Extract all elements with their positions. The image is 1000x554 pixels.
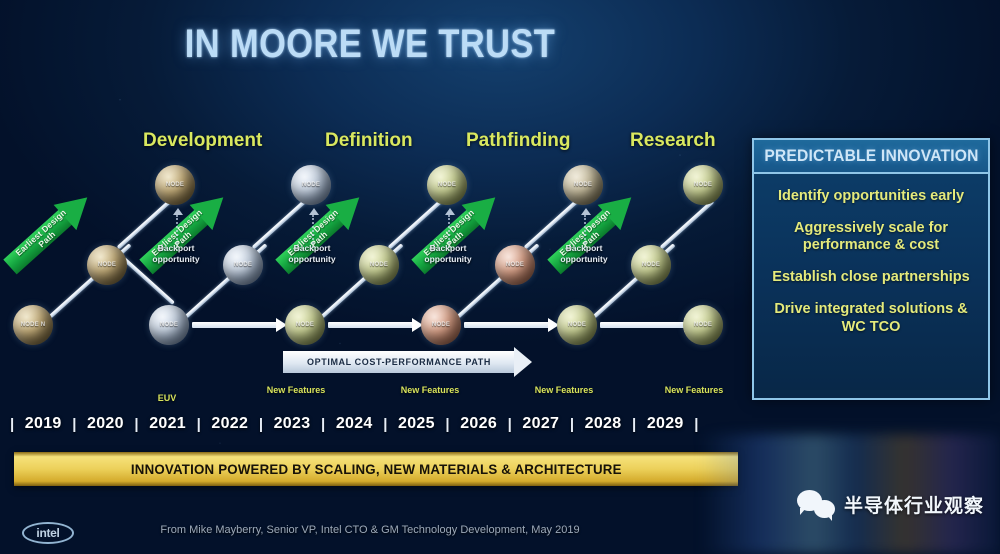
backport-label: Backport opportunity	[274, 243, 350, 264]
timeline-year-2022: 2022	[203, 415, 257, 433]
backport-label: Backport opportunity	[410, 243, 486, 264]
timeline-year-2020: 2020	[78, 415, 132, 433]
timeline-tick: |	[443, 416, 451, 433]
wafer-node-label: NODE	[98, 262, 116, 269]
wafer-node-bottom[interactable]: NODE	[285, 305, 325, 345]
optimal-cost-performance-label: OPTIMAL COST-PERFORMANCE PATH	[307, 357, 491, 367]
wafer-node-mid[interactable]: NODE	[87, 245, 127, 285]
wafer-node-label: NODE	[370, 262, 388, 269]
wafer-node-mid[interactable]: NODE	[359, 245, 399, 285]
panel-bullet-1: Identify opportunities early	[766, 188, 976, 205]
wafer-node-label: NODE	[694, 182, 712, 189]
optimal-cost-performance-banner: OPTIMAL COST-PERFORMANCE PATH	[283, 351, 515, 373]
wafer-node-mid[interactable]: NODE	[495, 245, 535, 285]
wafer-node-mid[interactable]: NODE	[223, 245, 263, 285]
bottom-flow-arrow	[328, 322, 414, 328]
timeline-tick: |	[8, 416, 16, 433]
bottom-flow-arrow	[192, 322, 278, 328]
intel-logo: intel	[22, 522, 74, 544]
connector-rod	[660, 200, 715, 250]
panel-bullet-3: Establish close partnerships	[766, 269, 976, 286]
wafer-node-bottom[interactable]: NODE	[683, 305, 723, 345]
timeline-tick: |	[70, 416, 78, 433]
timeline-year-2029: 2029	[638, 415, 692, 433]
innovation-banner-label: INNOVATION POWERED BY SCALING, NEW MATER…	[131, 461, 622, 477]
wafer-node-label: NODE	[574, 182, 592, 189]
timeline-year-2027: 2027	[514, 415, 568, 433]
wafer-node-label: NODE	[506, 262, 524, 269]
timeline-tick: |	[381, 416, 389, 433]
wafer-node-label: NODE	[642, 262, 660, 269]
timeline-note-new-features: New Features	[265, 385, 327, 395]
wafer-node-top[interactable]: NODE	[427, 165, 467, 205]
timeline-year-2026: 2026	[452, 415, 506, 433]
wafer-node-bottom[interactable]: NODE	[421, 305, 461, 345]
wafer-node-top[interactable]: NODE	[563, 165, 603, 205]
timeline-tick: |	[257, 416, 265, 433]
wafer-node-label: NODE	[160, 322, 178, 329]
roadmap-diagram: Earliest Design Path Earliest Design Pat…	[0, 0, 740, 445]
predictable-innovation-panel: PREDICTABLE INNOVATION Identify opportun…	[752, 138, 990, 400]
wafer-node-label: NODE	[296, 322, 314, 329]
wafer-node-top[interactable]: NODE	[683, 165, 723, 205]
timeline-year-2025: 2025	[389, 415, 443, 433]
timeline-note-new-features: New Features	[399, 385, 461, 395]
wechat-icon	[797, 490, 835, 518]
wafer-node-label: NODE N	[21, 322, 46, 329]
backport-label: Backport opportunity	[546, 243, 622, 264]
panel-header: PREDICTABLE INNOVATION	[754, 140, 988, 174]
wafer-node-label: NODE	[234, 262, 252, 269]
innovation-banner: INNOVATION POWERED BY SCALING, NEW MATER…	[14, 452, 738, 486]
earliest-design-path-arrow: Earliest Design Path	[0, 186, 97, 278]
wafer-node-top[interactable]: NODE	[155, 165, 195, 205]
wafer-node-mid[interactable]: NODE	[631, 245, 671, 285]
bottom-flow-arrow	[464, 322, 550, 328]
timeline-tick: |	[692, 416, 700, 433]
timeline-year-2028: 2028	[576, 415, 630, 433]
watermark: 半导体行业观察	[797, 490, 984, 518]
timeline-year-2024: 2024	[327, 415, 381, 433]
wafer-node-bottom[interactable]: NODE N	[13, 305, 53, 345]
timeline-year-2021: 2021	[141, 415, 195, 433]
wafer-node-top[interactable]: NODE	[291, 165, 331, 205]
timeline-note-euv: EUV	[136, 393, 198, 403]
wafer-node-label: NODE	[438, 182, 456, 189]
panel-header-label: PREDICTABLE INNOVATION	[764, 146, 978, 166]
wechat-bubble-small	[814, 500, 835, 518]
earliest-design-path-label: Earliest Design Path	[10, 204, 78, 268]
slide-footer: From Mike Mayberry, Senior VP, Intel CTO…	[0, 524, 740, 536]
bottom-flow-arrow	[600, 322, 686, 328]
timeline-tick: |	[195, 416, 203, 433]
wafer-node-bottom[interactable]: NODE	[557, 305, 597, 345]
wafer-node-bottom[interactable]: NODE	[149, 305, 189, 345]
timeline-year-2019: 2019	[16, 415, 70, 433]
timeline-tick: |	[506, 416, 514, 433]
timeline-tick: |	[568, 416, 576, 433]
timeline-note-new-features: New Features	[663, 385, 725, 395]
wafer-node-label: NODE	[432, 322, 450, 329]
panel-bullet-2: Aggressively scale for performance & cos…	[766, 220, 976, 254]
backport-label: Backport opportunity	[138, 243, 214, 264]
wafer-node-label: NODE	[694, 322, 712, 329]
wafer-node-label: NODE	[166, 182, 184, 189]
wafer-node-label: NODE	[302, 182, 320, 189]
timeline-tick: |	[132, 416, 140, 433]
timeline-note-new-features: New Features	[533, 385, 595, 395]
panel-body: Identify opportunities early Aggressivel…	[754, 174, 988, 336]
watermark-label: 半导体行业观察	[844, 491, 984, 518]
timeline-tick: |	[319, 416, 327, 433]
timeline: EUV New Features New Features New Featur…	[8, 405, 738, 439]
timeline-tick: |	[630, 416, 638, 433]
wafer-node-label: NODE	[568, 322, 586, 329]
slide-root: IN MOORE WE TRUST Development Definition…	[0, 0, 1000, 554]
panel-bullet-4: Drive integrated solutions & WC TCO	[766, 301, 976, 335]
timeline-year-2023: 2023	[265, 415, 319, 433]
timeline-years-row: | 2019 | 2020 | 2021 | 2022 | 2023 | 202…	[8, 415, 700, 433]
